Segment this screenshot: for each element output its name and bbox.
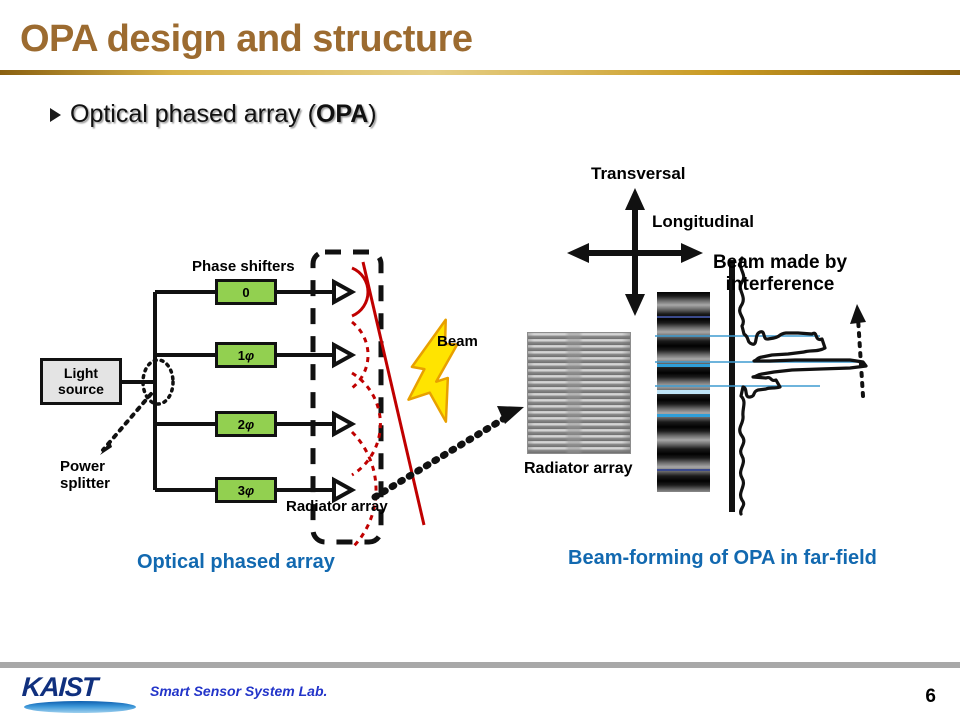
- beam-label: Beam: [437, 333, 478, 350]
- phase-shifter-1: 1φ: [215, 342, 277, 368]
- footer-divider: [0, 662, 960, 668]
- light-source-line1: Light: [64, 366, 98, 382]
- kaist-logo: KAIST: [22, 672, 140, 714]
- right-diagram-caption: Beam-forming of OPA in far-field: [568, 547, 877, 570]
- phase-shifter-phi: φ: [245, 417, 254, 432]
- left-diagram-caption: Optical phased array: [137, 551, 335, 574]
- page-number: 6: [925, 686, 936, 708]
- phase-shifter-value: 0: [242, 285, 249, 300]
- transversal-label: Transversal: [591, 164, 686, 184]
- beam-interference-line2: interference: [726, 274, 835, 295]
- power-splitter-line2: splitter: [60, 475, 110, 492]
- radiator-array-label-left: Radiator array: [286, 498, 388, 515]
- phase-shifter-2: 2φ: [215, 411, 277, 437]
- phase-shifter-3: 3φ: [215, 477, 277, 503]
- callout-arrow-head: [850, 304, 866, 324]
- beam-interference-label: Beam made by interference: [713, 252, 847, 296]
- kaist-swoosh-icon: [24, 701, 136, 713]
- kaist-wordmark: KAIST: [21, 672, 98, 703]
- radiator-array-sem-image: [527, 332, 631, 454]
- power-splitter-label: Power splitter: [60, 458, 110, 493]
- phase-shifter-value: 3: [238, 483, 245, 498]
- callout-arrow-line: [858, 318, 863, 396]
- light-source-box: Light source: [40, 358, 122, 405]
- beam-interference-line1: Beam made by: [713, 252, 847, 273]
- light-source-line2: source: [58, 382, 104, 398]
- power-splitter-line1: Power: [60, 458, 105, 475]
- radiator-array-label-right: Radiator array: [524, 460, 633, 478]
- phase-shifter-0: 0: [215, 279, 277, 305]
- lab-name-label: Smart Sensor System Lab.: [150, 683, 327, 699]
- phase-shifter-phi: φ: [245, 348, 254, 363]
- phase-shifter-value: 1: [238, 348, 245, 363]
- phase-shifter-phi: φ: [245, 483, 254, 498]
- slide-canvas: OPA design and structure Optical phased …: [0, 0, 960, 720]
- phase-shifter-value: 2: [238, 417, 245, 432]
